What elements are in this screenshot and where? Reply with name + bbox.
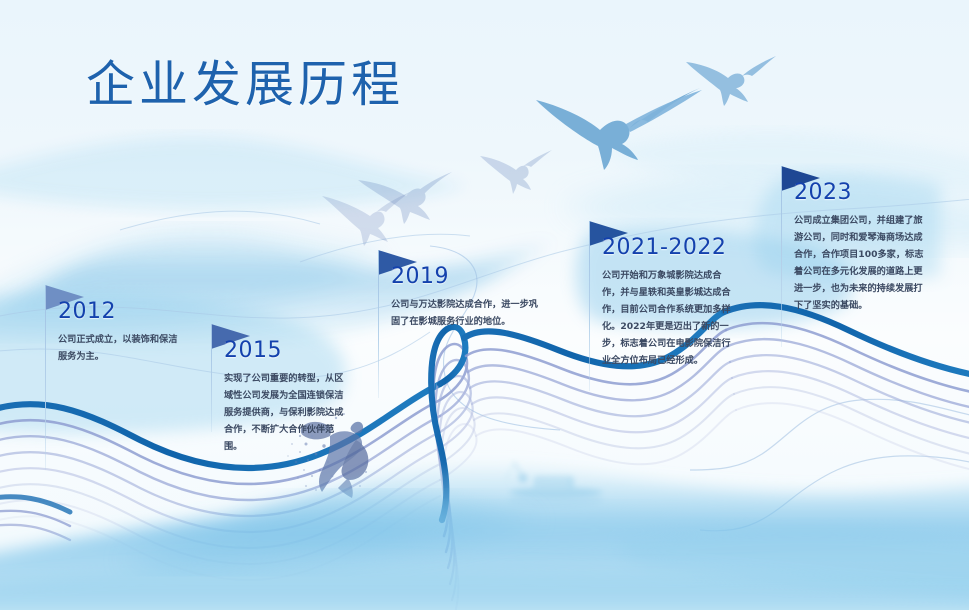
- milestone-year: 2023: [794, 180, 852, 205]
- poster-canvas: 企业发展历程 2012 公司正式成立，以装饰和保洁服务为主。 2015 实现了公…: [0, 0, 969, 610]
- milestone-year: 2021-2022: [602, 235, 726, 260]
- milestone-year: 2019: [391, 264, 449, 289]
- flag-pole: [781, 166, 782, 347]
- page-title: 企业发展历程: [86, 57, 404, 113]
- flag-pole: [211, 324, 212, 432]
- milestone-description: 实现了公司重要的转型，从区域性公司发展为全国连锁保洁服务提供商，与保利影院达成合…: [224, 370, 348, 455]
- milestone-year: 2015: [224, 338, 282, 363]
- flag-pole: [378, 250, 379, 398]
- flag-pole: [589, 221, 590, 391]
- milestone-description: 公司正式成立，以装饰和保洁服务为主。: [58, 331, 182, 365]
- flag-pole: [45, 285, 46, 470]
- milestone-description: 公司成立集团公司，并组建了旅游公司，同时和爱琴海商场达成合作，合作项目100多家…: [794, 212, 927, 314]
- milestone-description: 公司开始和万象城影院达成合作，并与星轶和英皇影城达成合作，目前公司合作系统更加多…: [602, 267, 732, 369]
- milestone-year: 2012: [58, 299, 116, 324]
- milestone-description: 公司与万达影院达成合作，进一步巩固了在影城服务行业的地位。: [391, 296, 538, 330]
